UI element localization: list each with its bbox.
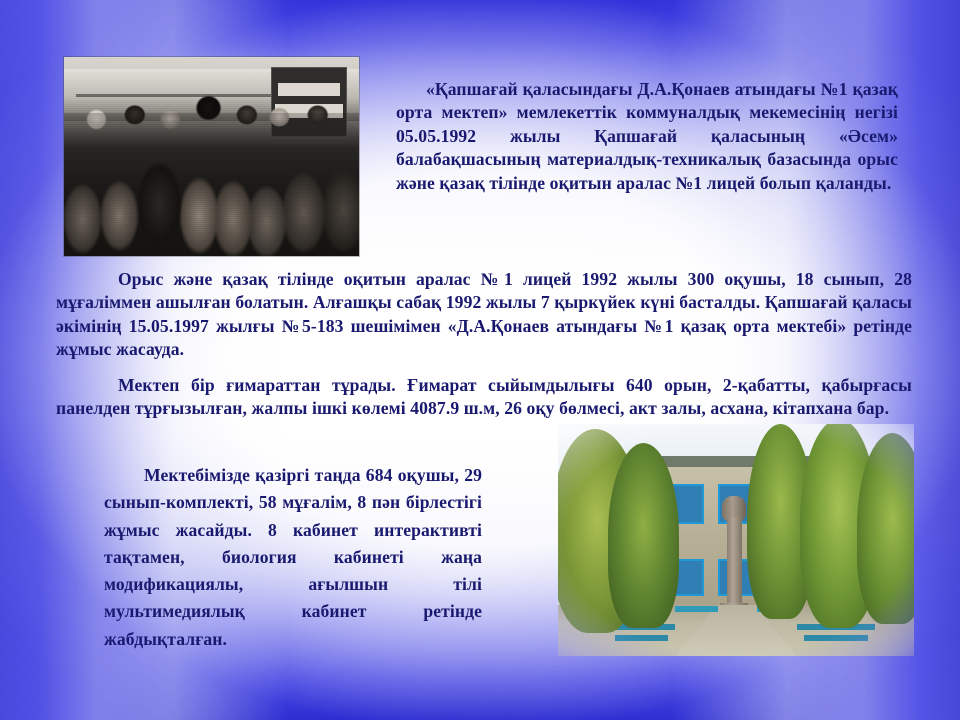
paragraph-intro: «Қапшағай қаласындағы Д.А.Қонаев атындағ… xyxy=(396,78,898,195)
photo-film-grain xyxy=(64,57,359,256)
school-building-photo xyxy=(558,424,914,656)
paragraph-history: Орыс және қазақ тілінде оқитын аралас №1… xyxy=(56,268,912,362)
paragraph-today: Мектебімізде қазіргі таңда 684 оқушы, 29… xyxy=(104,462,482,653)
slide-content: «Қапшағай қаласындағы Д.А.Қонаев атындағ… xyxy=(0,0,960,720)
school-fence xyxy=(804,635,868,641)
slide-canvas: «Қапшағай қаласындағы Д.А.Қонаев атындағ… xyxy=(0,0,960,720)
historic-group-photo xyxy=(64,57,359,256)
school-tree xyxy=(608,443,679,629)
monument-column xyxy=(727,517,742,610)
school-fence xyxy=(615,635,668,641)
school-bench xyxy=(675,606,718,612)
paragraph-building: Мектеп бір ғимараттан тұрады. Ғимарат сы… xyxy=(56,374,912,421)
